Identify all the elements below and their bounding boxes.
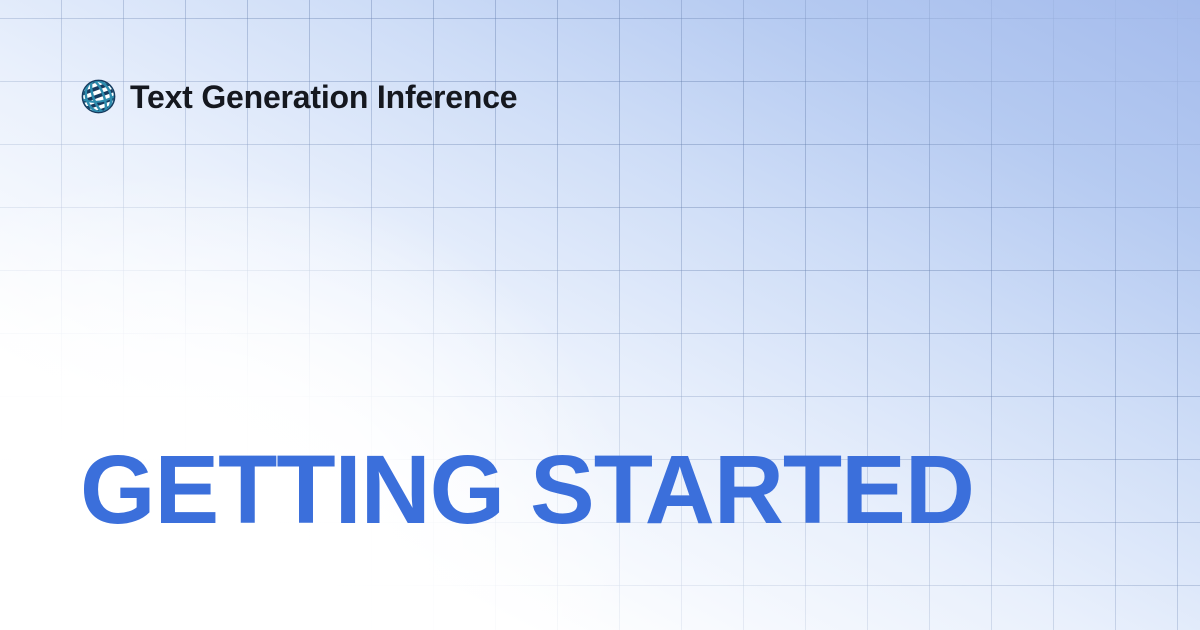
hero-headline: GETTING STARTED bbox=[80, 441, 974, 538]
globe-icon bbox=[80, 78, 117, 115]
background-white-bloom bbox=[0, 170, 640, 630]
og-card: Text Generation Inference GETTING STARTE… bbox=[0, 0, 1200, 630]
page-title: Text Generation Inference bbox=[130, 81, 517, 113]
header: Text Generation Inference bbox=[80, 78, 517, 115]
